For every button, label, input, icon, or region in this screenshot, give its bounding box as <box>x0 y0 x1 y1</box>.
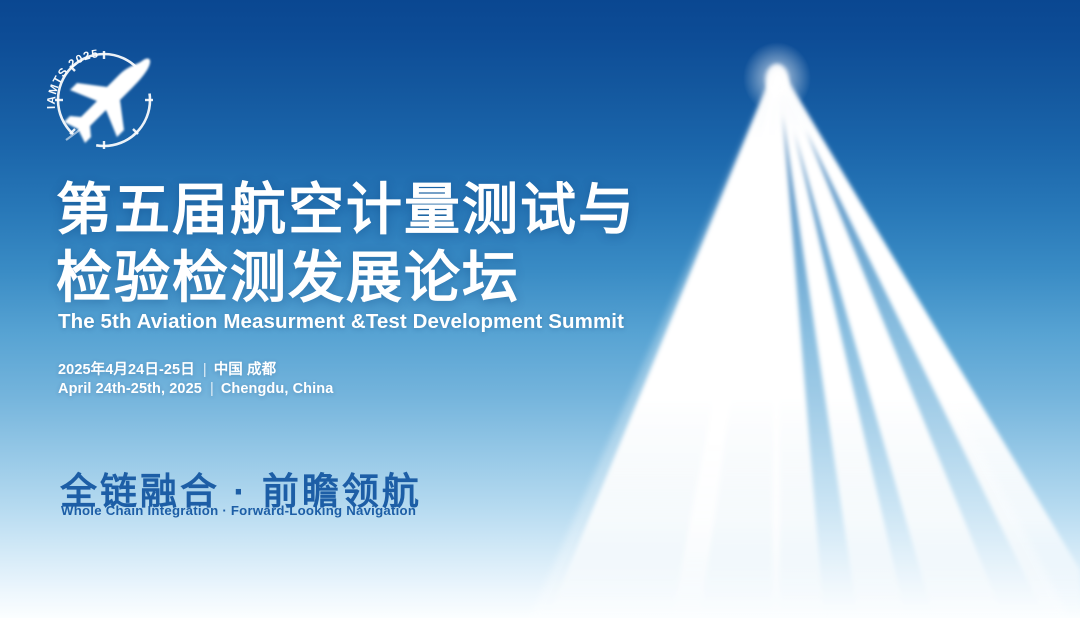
event-logo: IAMTS 2025 <box>46 44 174 154</box>
ray-3 <box>772 70 824 618</box>
ray-apex-glow <box>743 42 811 114</box>
meta-separator-cn: | <box>195 362 214 378</box>
title-english: The 5th Aviation Measurment &Test Develo… <box>58 310 624 334</box>
event-location-chinese: 中国 成都 <box>214 362 277 378</box>
conference-banner: IAMTS 2025 第五届航空计量测试与 检验检测发展论坛 The 5th A… <box>0 0 1080 618</box>
ray-6 <box>778 74 1080 618</box>
slogan-english: Whole Chain Integration · Forward-Lookin… <box>61 503 416 518</box>
meta-separator-en: | <box>202 381 221 397</box>
event-date-chinese: 2025年4月24日-25日 <box>58 362 195 378</box>
event-date-english: April 24th-25th, 2025 <box>58 381 202 397</box>
event-location-english: Chengdu, China <box>221 381 334 397</box>
ray-2 <box>672 72 780 618</box>
ray-halo <box>530 70 1070 618</box>
ray-4 <box>776 70 906 618</box>
ray-apex-core <box>766 64 788 96</box>
title-chinese-line-1: 第五届航空计量测试与 <box>56 177 636 243</box>
event-date-location-english: April 24th-25th, 2025|Chengdu, China <box>58 381 333 397</box>
event-date-location-chinese: 2025年4月24日-25日|中国 成都 <box>58 358 276 379</box>
logo-curved-text: IAMTS 2025 <box>46 48 100 109</box>
ray-5 <box>777 72 1004 618</box>
title-chinese-line-2: 检验检测发展论坛 <box>56 245 520 311</box>
ray-1 <box>548 74 778 618</box>
